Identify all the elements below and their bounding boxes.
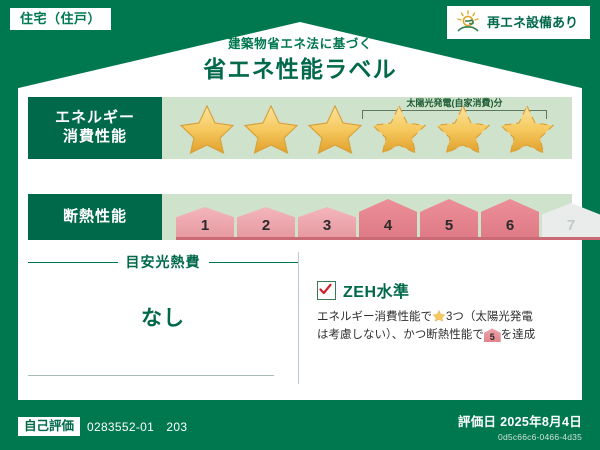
check-icon: [319, 283, 332, 296]
zeh-desc-part2: は考慮しない）、かつ断熱性能で: [317, 329, 484, 341]
renewable-energy-badge: 再エネ設備あり: [447, 6, 590, 39]
star-solar: [496, 101, 558, 155]
grade-item: 2: [237, 207, 295, 237]
grade-item: 7: [542, 203, 600, 237]
zeh-description: エネルギー消費性能で3つ（太陽光発電 は考慮しない）、かつ断熱性能で5を達成: [317, 308, 572, 345]
grade-item: 5: [420, 199, 478, 237]
star-icon: [432, 309, 446, 322]
bottom-section: 目安光熱費 なし ZEH水準 エネルギー消費性能で3つ（太陽光発電 は考慮しない…: [28, 252, 572, 384]
star-filled: [240, 101, 302, 155]
utility-cost-title: 目安光熱費: [126, 252, 201, 272]
zeh-desc-grade: 5: [484, 328, 501, 342]
utility-cost-section: 目安光熱費 なし: [28, 252, 298, 384]
label-uuid: 0d5c66c6-0466-4d35: [458, 432, 582, 442]
star-filled: [176, 101, 238, 155]
grade-value: 6: [481, 199, 539, 237]
rule-left: [28, 262, 118, 263]
heading-subtitle: 建築物省エネ法に基づく: [0, 38, 600, 52]
zeh-desc-part3: を達成: [501, 329, 536, 341]
footer-right: 評価日 2025年8月4日 0d5c66c6-0466-4d35: [458, 411, 582, 442]
energy-key-line1: エネルギー: [55, 109, 135, 128]
insulation-grade-scale: 1 2 3 4 5 6 7: [176, 199, 600, 237]
grade-item: 6: [481, 199, 539, 237]
grade-value: 2: [237, 207, 295, 237]
grade-baseline: [176, 237, 600, 240]
housing-type-tag: 住宅（住戸）: [10, 8, 111, 30]
self-evaluation-badge: 自己評価: [18, 417, 80, 436]
zeh-section: ZEH水準 エネルギー消費性能で3つ（太陽光発電 は考慮しない）、かつ断熱性能で…: [298, 252, 572, 384]
insulation-performance-key: 断熱性能: [28, 194, 162, 240]
energy-performance-key: エネルギー 消費性能: [28, 97, 162, 159]
utility-cost-value: なし: [28, 302, 298, 332]
sun-icon: [455, 10, 481, 34]
energy-performance-value: 太陽光発電(自家消費)分: [162, 97, 572, 159]
heading-title: 省エネ性能ラベル: [0, 55, 600, 84]
label-heading: 建築物省エネ法に基づく 省エネ性能ラベル: [0, 38, 600, 84]
star-solar: [432, 101, 494, 155]
grade-item: 4: [359, 199, 417, 237]
evaluation-date: 評価日 2025年8月4日: [458, 411, 582, 430]
energy-key-line2: 消費性能: [63, 128, 127, 147]
star-filled: [304, 101, 366, 155]
grade-value: 4: [359, 199, 417, 237]
zeh-header: ZEH水準: [317, 278, 572, 302]
energy-performance-label: 住宅（住戸） 再エネ設備あり 建築物省エネ法に基づく 省エネ性能ラベル エネルギ…: [0, 0, 600, 450]
rule-right: [209, 262, 299, 263]
utility-cost-header: 目安光熱費: [28, 252, 298, 272]
zeh-desc-stars: 3つ（太陽光発電: [446, 311, 533, 323]
grade-value: 5: [420, 199, 478, 237]
grade-item: 3: [298, 207, 356, 237]
zeh-checkbox[interactable]: [317, 281, 336, 300]
renewable-energy-badge-label: 再エネ設備あり: [487, 16, 578, 29]
utility-cost-rule: [28, 375, 274, 376]
insulation-performance-value: 1 2 3 4 5 6 7: [162, 194, 572, 240]
energy-performance-row: エネルギー 消費性能 太陽光発電(自家消費)分: [28, 97, 572, 159]
label-footer: 自己評価 0283552-01 203 評価日 2025年8月4日 0d5c66…: [0, 402, 600, 450]
grade-value: 7: [542, 203, 600, 237]
star-rating: [176, 101, 558, 155]
star-solar: [368, 101, 430, 155]
zeh-desc-part1: エネルギー消費性能で: [317, 311, 432, 323]
grade-value: 1: [176, 207, 234, 237]
grade-value: 3: [298, 207, 356, 237]
insulation-performance-row: 断熱性能 1 2 3 4 5 6 7: [28, 194, 572, 240]
registration-number: 0283552-01 203: [87, 418, 187, 435]
zeh-title: ZEH水準: [343, 278, 410, 302]
grade-item: 1: [176, 207, 234, 237]
footer-left: 自己評価 0283552-01 203: [18, 417, 187, 436]
